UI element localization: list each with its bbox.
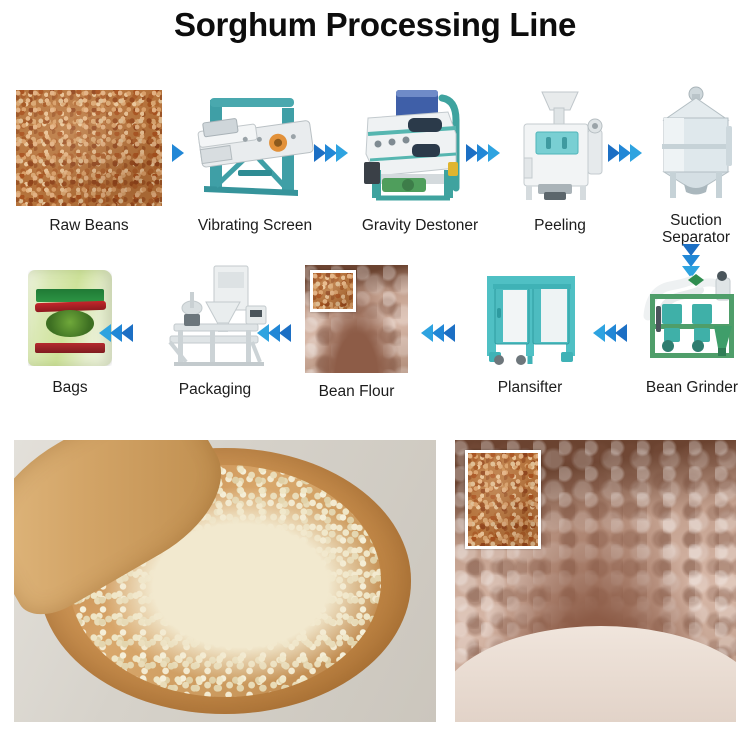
bag-green-band: [36, 289, 103, 301]
flow-step-label-peeling: Peeling: [506, 218, 614, 234]
photo-raw-beans: [16, 90, 162, 206]
process-flow-row-1: Raw Beans: [0, 82, 750, 242]
chevron-left-icon: [443, 324, 455, 342]
bean-flour-grain-inset: [310, 270, 356, 312]
sorghum-grains-inset: [465, 450, 541, 549]
flow-step-bean-grinder[interactable]: Bean Grinder: [638, 264, 746, 396]
flow-step-label-plansifter: Plansifter: [473, 380, 587, 396]
chevron-left-icon: [615, 324, 627, 342]
arrow-gravity-to-peeling: [466, 144, 499, 162]
chevron-right-icon: [172, 144, 184, 162]
flow-step-peeling[interactable]: Peeling: [506, 86, 614, 234]
machine-vibrating-screen: [186, 86, 324, 206]
flow-step-label-bags: Bags: [28, 380, 112, 396]
flow-step-suction-separator[interactable]: Suction Separator: [648, 86, 744, 246]
flow-step-label-suction-separator: Suction Separator: [648, 212, 744, 246]
flow-step-label-packaging: Packaging: [148, 382, 282, 398]
arrow-beanflour-to-packaging: [258, 324, 291, 342]
arrow-grinder-to-plansifter: [594, 324, 627, 342]
machine-peeling: [506, 86, 614, 206]
arrow-packaging-to-bags: [100, 324, 133, 342]
flow-step-label-bean-flour: Bean Flour: [305, 384, 408, 400]
page-title: Sorghum Processing Line: [0, 6, 750, 44]
arrow-raw-to-vibrating: [172, 144, 183, 162]
chevron-right-icon: [630, 144, 642, 162]
bag-body: [28, 270, 112, 366]
chevron-right-icon: [488, 144, 500, 162]
machine-suction-separator: [648, 86, 744, 202]
bag-product-image: [46, 310, 93, 337]
photo-bags: [28, 270, 112, 366]
flow-step-plansifter[interactable]: Plansifter: [473, 264, 587, 396]
arrow-plansifter-to-beanflour: [422, 324, 455, 342]
chevron-right-icon: [336, 144, 348, 162]
chevron-left-icon: [279, 324, 291, 342]
process-flow-row-2: Bags: [0, 256, 750, 406]
arrow-peeling-to-suction: [608, 144, 641, 162]
flow-step-raw-beans[interactable]: Raw Beans: [16, 90, 162, 234]
flow-step-label-raw-beans: Raw Beans: [16, 218, 162, 234]
flow-step-label-bean-grinder: Bean Grinder: [638, 380, 746, 396]
flow-step-label-vibrating-screen: Vibrating Screen: [186, 218, 324, 234]
bag-bottom-band: [35, 343, 106, 353]
flow-step-vibrating-screen[interactable]: Vibrating Screen: [186, 86, 324, 234]
photo-bean-flour: [305, 265, 408, 373]
machine-packaging: [148, 262, 282, 370]
gallery-photo-sorghum-flour[interactable]: [455, 440, 736, 722]
arrow-vibrating-to-gravity: [314, 144, 347, 162]
flow-step-label-gravity-destoner: Gravity Destoner: [352, 218, 488, 234]
chevron-left-icon: [121, 324, 133, 342]
gallery-photo-sorghum-grains[interactable]: [14, 440, 436, 722]
machine-plansifter: [473, 264, 587, 368]
flow-step-bean-flour[interactable]: Bean Flour: [305, 265, 408, 400]
machine-bean-grinder: [638, 264, 746, 368]
